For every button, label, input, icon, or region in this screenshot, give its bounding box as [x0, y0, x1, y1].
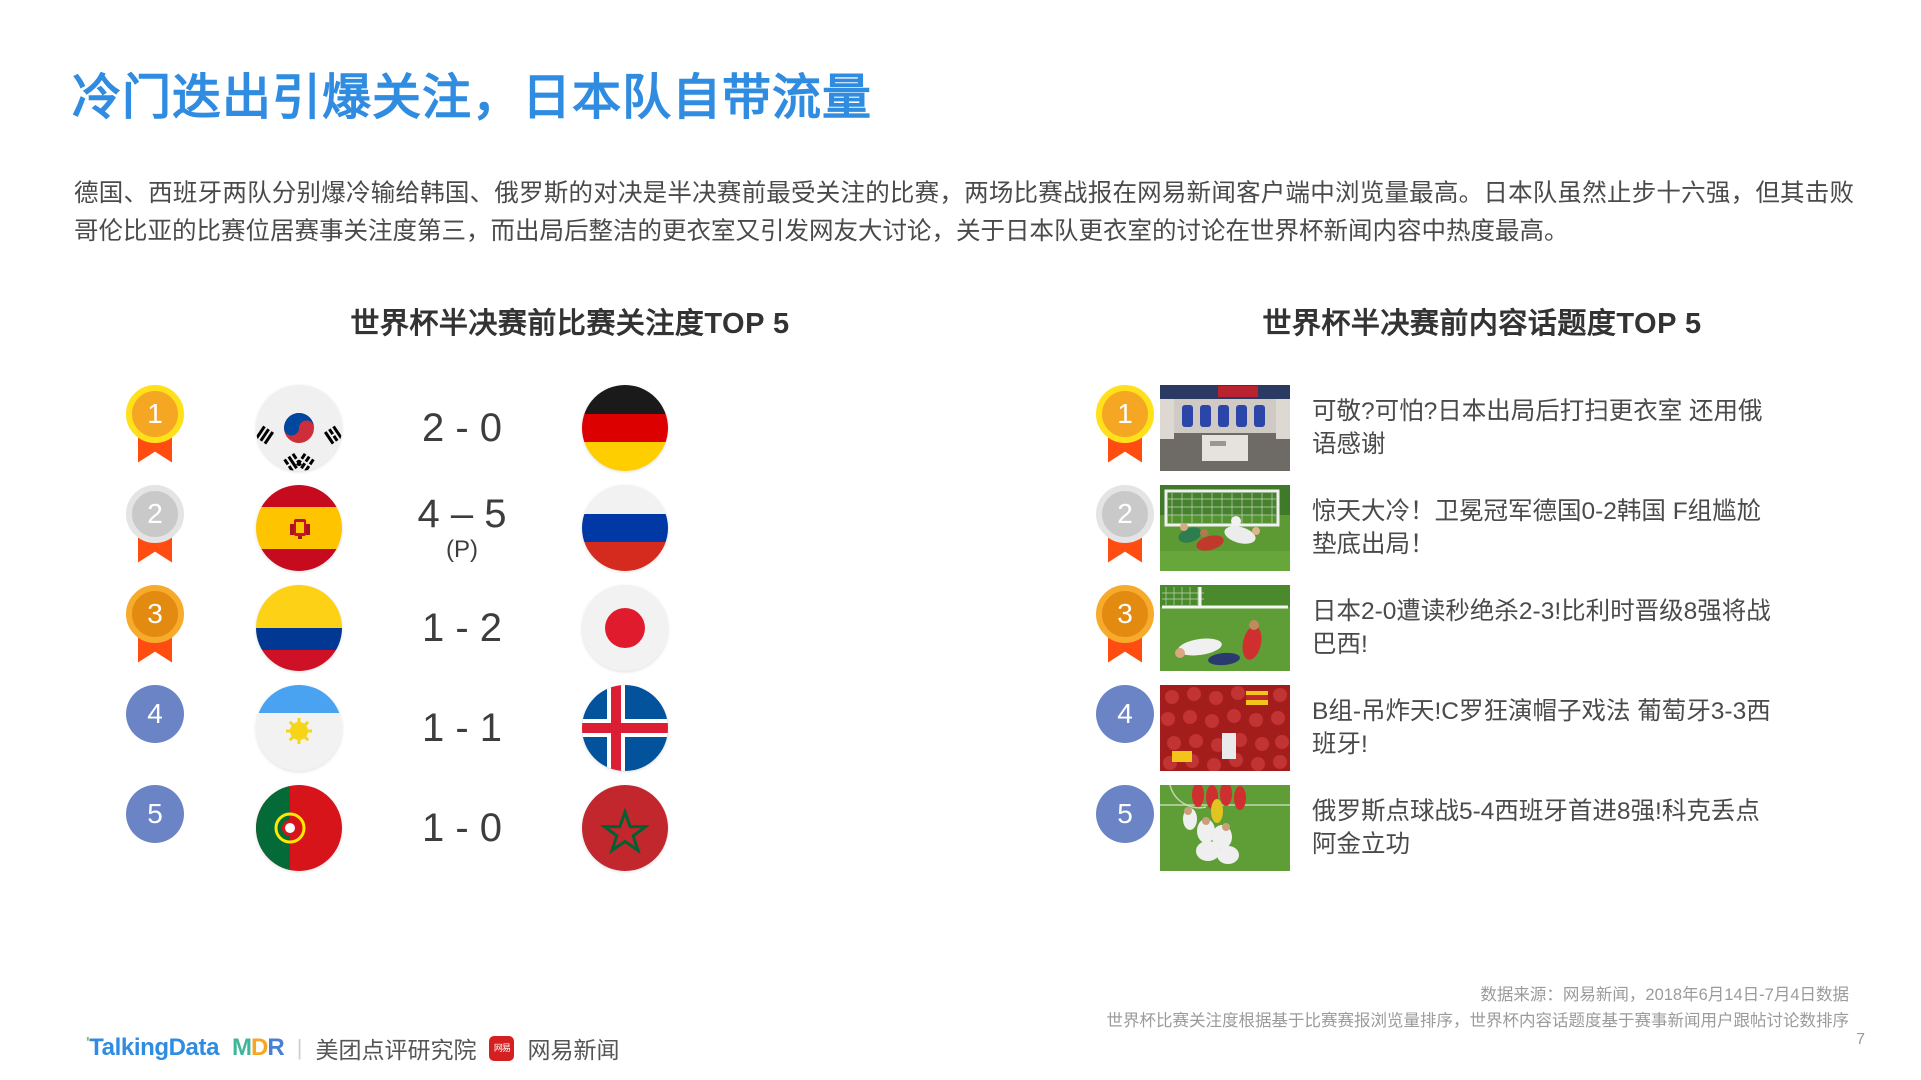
- score-value: 1 - 1: [422, 706, 502, 750]
- flag-co-icon: [256, 585, 342, 671]
- table-row: 1: [120, 378, 970, 477]
- slide-root: 冷门迭出引爆关注，日本队自带流量 德国、西班牙两队分别爆冷输给韩国、俄罗斯的对决…: [0, 0, 1921, 1080]
- rank-badge-2: 2: [120, 485, 190, 571]
- match-score: 1 - 1: [342, 707, 582, 749]
- score-value: 2 - 0: [422, 406, 502, 450]
- logo-divider: |: [297, 1035, 303, 1061]
- flag-jp-icon: [582, 585, 668, 671]
- rank-number: 2: [1096, 485, 1154, 543]
- source-note: 数据来源：网易新闻，2018年6月14日-7月4日数据 世界杯比赛关注度根据基于…: [1107, 982, 1850, 1034]
- rank-number: 1: [126, 385, 184, 443]
- netease-news-logo: 网易新闻: [527, 1031, 619, 1065]
- table-row: 2: [120, 478, 970, 577]
- goal-save-photo: [1160, 485, 1290, 571]
- meituan-research-logo: 美团点评研究院: [315, 1031, 476, 1065]
- match-score: 1 - 2: [342, 607, 582, 649]
- match-score: 4 – 5 (P): [342, 493, 582, 562]
- flag-kr-icon: [256, 385, 342, 471]
- news-headline: 惊天大冷！卫冕冠军德国0-2韩国 F组尴尬垫底出局！: [1312, 495, 1782, 561]
- celebration-photo: [1160, 785, 1290, 871]
- flag-pt-icon: [256, 785, 342, 871]
- list-item[interactable]: 5: [1090, 778, 1850, 877]
- page-number: 7: [1856, 1031, 1865, 1049]
- score-value: 1 - 0: [422, 806, 502, 850]
- rank-number: 1: [1096, 385, 1154, 443]
- rank-badge-4: 4: [1090, 685, 1160, 771]
- flag-ma-icon: [582, 785, 668, 871]
- players-on-turf-photo: [1160, 585, 1290, 671]
- flag-de-icon: [582, 385, 668, 471]
- score-value: 1 - 2: [422, 606, 502, 650]
- rank-number: 5: [1096, 785, 1154, 843]
- rank-badge-1: 1: [1090, 385, 1160, 471]
- score-value: 4 – 5: [418, 492, 507, 536]
- rank-number: 4: [126, 685, 184, 743]
- content-topic-panel: 世界杯半决赛前内容话题度TOP 5 1: [1090, 300, 1850, 878]
- rank-number: 3: [1096, 585, 1154, 643]
- logo-bar: 'TalkingData MDR | 美团点评研究院 网易 网易新闻: [86, 1031, 619, 1065]
- rank-badge-5: 5: [120, 785, 190, 871]
- news-headline: 可敬?可怕?日本出局后打扫更衣室 还用俄语感谢: [1312, 395, 1782, 461]
- page-title: 冷门迭出引爆关注，日本队自带流量: [72, 58, 872, 129]
- match-score: 2 - 0: [342, 407, 582, 449]
- flag-is-icon: [582, 685, 668, 771]
- rank-badge-5: 5: [1090, 785, 1160, 871]
- rank-number: 4: [1096, 685, 1154, 743]
- rank-badge-1: 1: [120, 385, 190, 471]
- rank-badge-3: 3: [120, 585, 190, 671]
- table-row: 4 1 - 1: [120, 678, 970, 777]
- locker-room-photo: [1160, 385, 1290, 471]
- match-score: 1 - 0: [342, 807, 582, 849]
- news-headline: B组-吊炸天!C罗狂演帽子戏法 葡萄牙3-3西班牙!: [1312, 695, 1782, 761]
- table-row: 3 1 - 2: [120, 578, 970, 677]
- rank-badge-4: 4: [120, 685, 190, 771]
- rank-number: 2: [126, 485, 184, 543]
- list-item[interactable]: 4: [1090, 678, 1850, 777]
- score-note: (P): [342, 537, 582, 562]
- match-attention-panel: 世界杯半决赛前比赛关注度TOP 5 1: [120, 300, 970, 878]
- match-panel-title: 世界杯半决赛前比赛关注度TOP 5: [170, 300, 970, 342]
- talkingdata-logo: 'TalkingData: [86, 1034, 219, 1062]
- source-line-2: 世界杯比赛关注度根据基于比赛赛报浏览量排序，世界杯内容话题度基于赛事新闻用户跟帖…: [1107, 1008, 1850, 1034]
- rank-badge-3: 3: [1090, 585, 1160, 671]
- news-panel-title: 世界杯半决赛前内容话题度TOP 5: [1114, 300, 1850, 342]
- flag-es-icon: [256, 485, 342, 571]
- flag-ru-icon: [582, 485, 668, 571]
- red-crowd-photo: [1160, 685, 1290, 771]
- mdr-logo: MDR: [232, 1034, 284, 1062]
- flag-ar-icon: [256, 685, 342, 771]
- rank-number: 5: [126, 785, 184, 843]
- list-item[interactable]: 2: [1090, 478, 1850, 577]
- rank-badge-2: 2: [1090, 485, 1160, 571]
- news-headline: 日本2-0遭读秒绝杀2-3!比利时晋级8强将战巴西!: [1312, 595, 1782, 661]
- news-headline: 俄罗斯点球战5-4西班牙首进8强!科克丢点阿金立功: [1312, 795, 1782, 861]
- source-line-1: 数据来源：网易新闻，2018年6月14日-7月4日数据: [1107, 982, 1850, 1008]
- table-row: 5 1 - 0: [120, 778, 970, 877]
- list-item[interactable]: 3: [1090, 578, 1850, 677]
- rank-number: 3: [126, 585, 184, 643]
- netease-mark-icon: 网易: [489, 1036, 514, 1061]
- list-item[interactable]: 1: [1090, 378, 1850, 477]
- page-description: 德国、西班牙两队分别爆冷输给韩国、俄罗斯的对决是半决赛前最受关注的比赛，两场比赛…: [74, 175, 1854, 251]
